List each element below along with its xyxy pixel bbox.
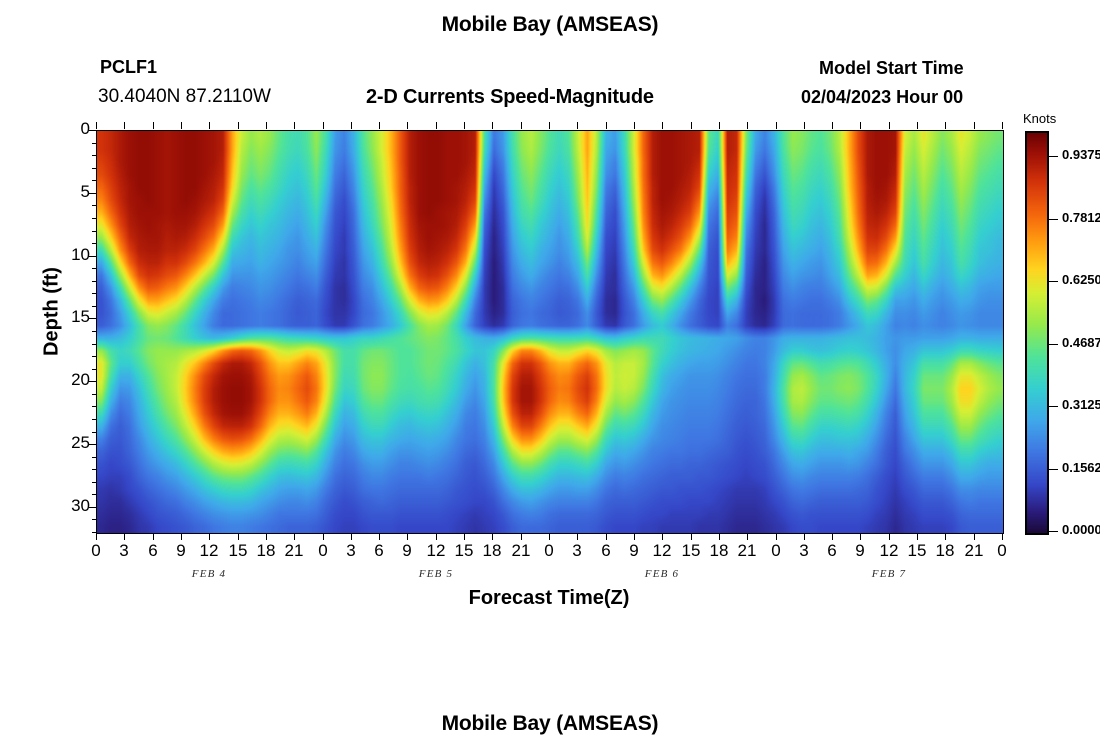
x-tick-mark-top [804,122,805,129]
x-tick-mark-top [634,122,635,129]
x-tick-mark [662,533,663,540]
x-tick-mark-top [351,122,352,129]
colorbar-canvas [1027,133,1047,533]
station-id: PCLF1 [100,57,157,78]
colorbar-tick-label: 0.31250 [1062,397,1100,412]
x-tick-mark [549,533,550,540]
x-tick-mark-top [889,122,890,129]
y-tick-minor [92,432,97,433]
colorbar-tick-mark [1049,469,1058,470]
y-tick-mark [89,381,97,382]
x-tick-mark-top [492,122,493,129]
x-tick-mark-top [181,122,182,129]
x-axis-day-label: FEB 6 [607,568,717,580]
x-tick-mark-top [294,122,295,129]
x-tick-label: 0 [982,541,1022,561]
y-tick-label: 30 [50,496,90,516]
x-tick-mark-top [124,122,125,129]
x-tick-mark [691,533,692,540]
x-tick-mark-top [549,122,550,129]
x-tick-mark-top [96,122,97,129]
x-tick-mark [1002,533,1003,540]
y-tick-minor [92,482,97,483]
x-tick-mark-top [153,122,154,129]
colorbar-units-label: Knots [1023,111,1056,126]
x-tick-mark [945,533,946,540]
x-tick-mark [832,533,833,540]
x-tick-mark [634,533,635,540]
x-tick-mark [266,533,267,540]
x-tick-mark-top [266,122,267,129]
y-tick-minor [92,344,97,345]
x-axis-day-label: FEB 4 [154,568,264,580]
model-start-time-label: Model Start Time [819,58,964,79]
x-tick-mark-top [832,122,833,129]
y-tick-minor [92,406,97,407]
page-title: Mobile Bay (AMSEAS) [0,13,1100,37]
heatmap-plot-area [96,130,1004,534]
x-axis-day-label: FEB 5 [381,568,491,580]
x-tick-mark-top [974,122,975,129]
x-tick-mark [974,533,975,540]
x-tick-mark-top [238,122,239,129]
y-tick-minor [92,306,97,307]
y-tick-mark [89,193,97,194]
colorbar-tick-mark [1049,281,1058,282]
y-tick-mark [89,256,97,257]
x-tick-mark [407,533,408,540]
y-tick-mark [89,318,97,319]
y-tick-minor [92,369,97,370]
x-tick-mark-top [577,122,578,129]
y-tick-minor [92,469,97,470]
x-tick-mark-top [747,122,748,129]
x-tick-mark [436,533,437,540]
x-tick-mark [124,533,125,540]
y-tick-minor [92,205,97,206]
colorbar [1025,131,1049,535]
x-tick-mark-top [521,122,522,129]
x-tick-mark-top [606,122,607,129]
x-tick-mark [776,533,777,540]
y-tick-label: 5 [50,182,90,202]
x-tick-mark [351,533,352,540]
x-tick-mark-top [379,122,380,129]
y-tick-mark [89,130,97,131]
x-tick-mark [747,533,748,540]
x-tick-mark-top [464,122,465,129]
x-tick-mark [860,533,861,540]
y-tick-minor [92,231,97,232]
page-title-bottom: Mobile Bay (AMSEAS) [0,712,1100,736]
y-tick-minor [92,519,97,520]
y-tick-minor [92,494,97,495]
y-tick-minor [92,419,97,420]
colorbar-tick-label: 0.78125 [1062,210,1100,225]
colorbar-tick-label: 0.00000 [1062,522,1100,537]
y-tick-minor [92,168,97,169]
y-tick-label: 10 [50,245,90,265]
x-tick-mark [492,533,493,540]
y-tick-minor [92,268,97,269]
y-tick-label: 0 [50,119,90,139]
x-tick-mark-top [323,122,324,129]
colorbar-tick-label: 0.93750 [1062,147,1100,162]
y-tick-minor [92,293,97,294]
x-tick-mark-top [407,122,408,129]
x-tick-mark-top [945,122,946,129]
colorbar-tick-mark [1049,531,1058,532]
y-tick-minor [92,281,97,282]
x-tick-mark [181,533,182,540]
y-axis-tick-labels: 051015202530 [44,0,90,750]
colorbar-tick-mark [1049,406,1058,407]
y-tick-minor [92,155,97,156]
y-tick-minor [92,218,97,219]
x-tick-mark [238,533,239,540]
x-tick-mark-top [691,122,692,129]
y-tick-minor [92,457,97,458]
x-tick-mark [719,533,720,540]
colorbar-tick-label: 0.62500 [1062,272,1100,287]
colorbar-tick-mark [1049,156,1058,157]
x-axis-title: Forecast Time(Z) [96,587,1002,610]
x-tick-mark-top [662,122,663,129]
colorbar-tick-mark [1049,219,1058,220]
x-axis-day-label: FEB 7 [834,568,944,580]
x-tick-mark [379,533,380,540]
x-tick-mark [889,533,890,540]
x-tick-mark [96,533,97,540]
x-tick-mark [464,533,465,540]
colorbar-tick-label: 0.46875 [1062,335,1100,350]
y-tick-label: 20 [50,370,90,390]
x-tick-mark [804,533,805,540]
colorbar-tick-mark [1049,344,1058,345]
x-tick-mark-top [436,122,437,129]
y-tick-label: 25 [50,433,90,453]
x-tick-mark [209,533,210,540]
plot-subtitle: 2-D Currents Speed-Magnitude [366,86,654,109]
x-tick-mark-top [1002,122,1003,129]
y-tick-minor [92,143,97,144]
y-tick-minor [92,356,97,357]
x-tick-mark [153,533,154,540]
model-start-time-value: 02/04/2023 Hour 00 [801,87,963,108]
x-tick-mark-top [860,122,861,129]
x-tick-mark [917,533,918,540]
y-tick-mark [89,507,97,508]
y-tick-mark [89,444,97,445]
x-tick-mark-top [719,122,720,129]
x-tick-mark [606,533,607,540]
x-tick-mark-top [776,122,777,129]
colorbar-tick-label: 0.15625 [1062,460,1100,475]
y-tick-minor [92,331,97,332]
y-tick-minor [92,394,97,395]
x-tick-mark-top [917,122,918,129]
x-tick-mark [323,533,324,540]
y-tick-label: 15 [50,307,90,327]
x-tick-mark [294,533,295,540]
y-tick-minor [92,243,97,244]
heatmap-canvas [97,131,1003,533]
station-coordinates: 30.4040N 87.2110W [98,86,271,108]
x-tick-mark [577,533,578,540]
y-tick-minor [92,180,97,181]
x-tick-mark-top [209,122,210,129]
x-tick-mark [521,533,522,540]
